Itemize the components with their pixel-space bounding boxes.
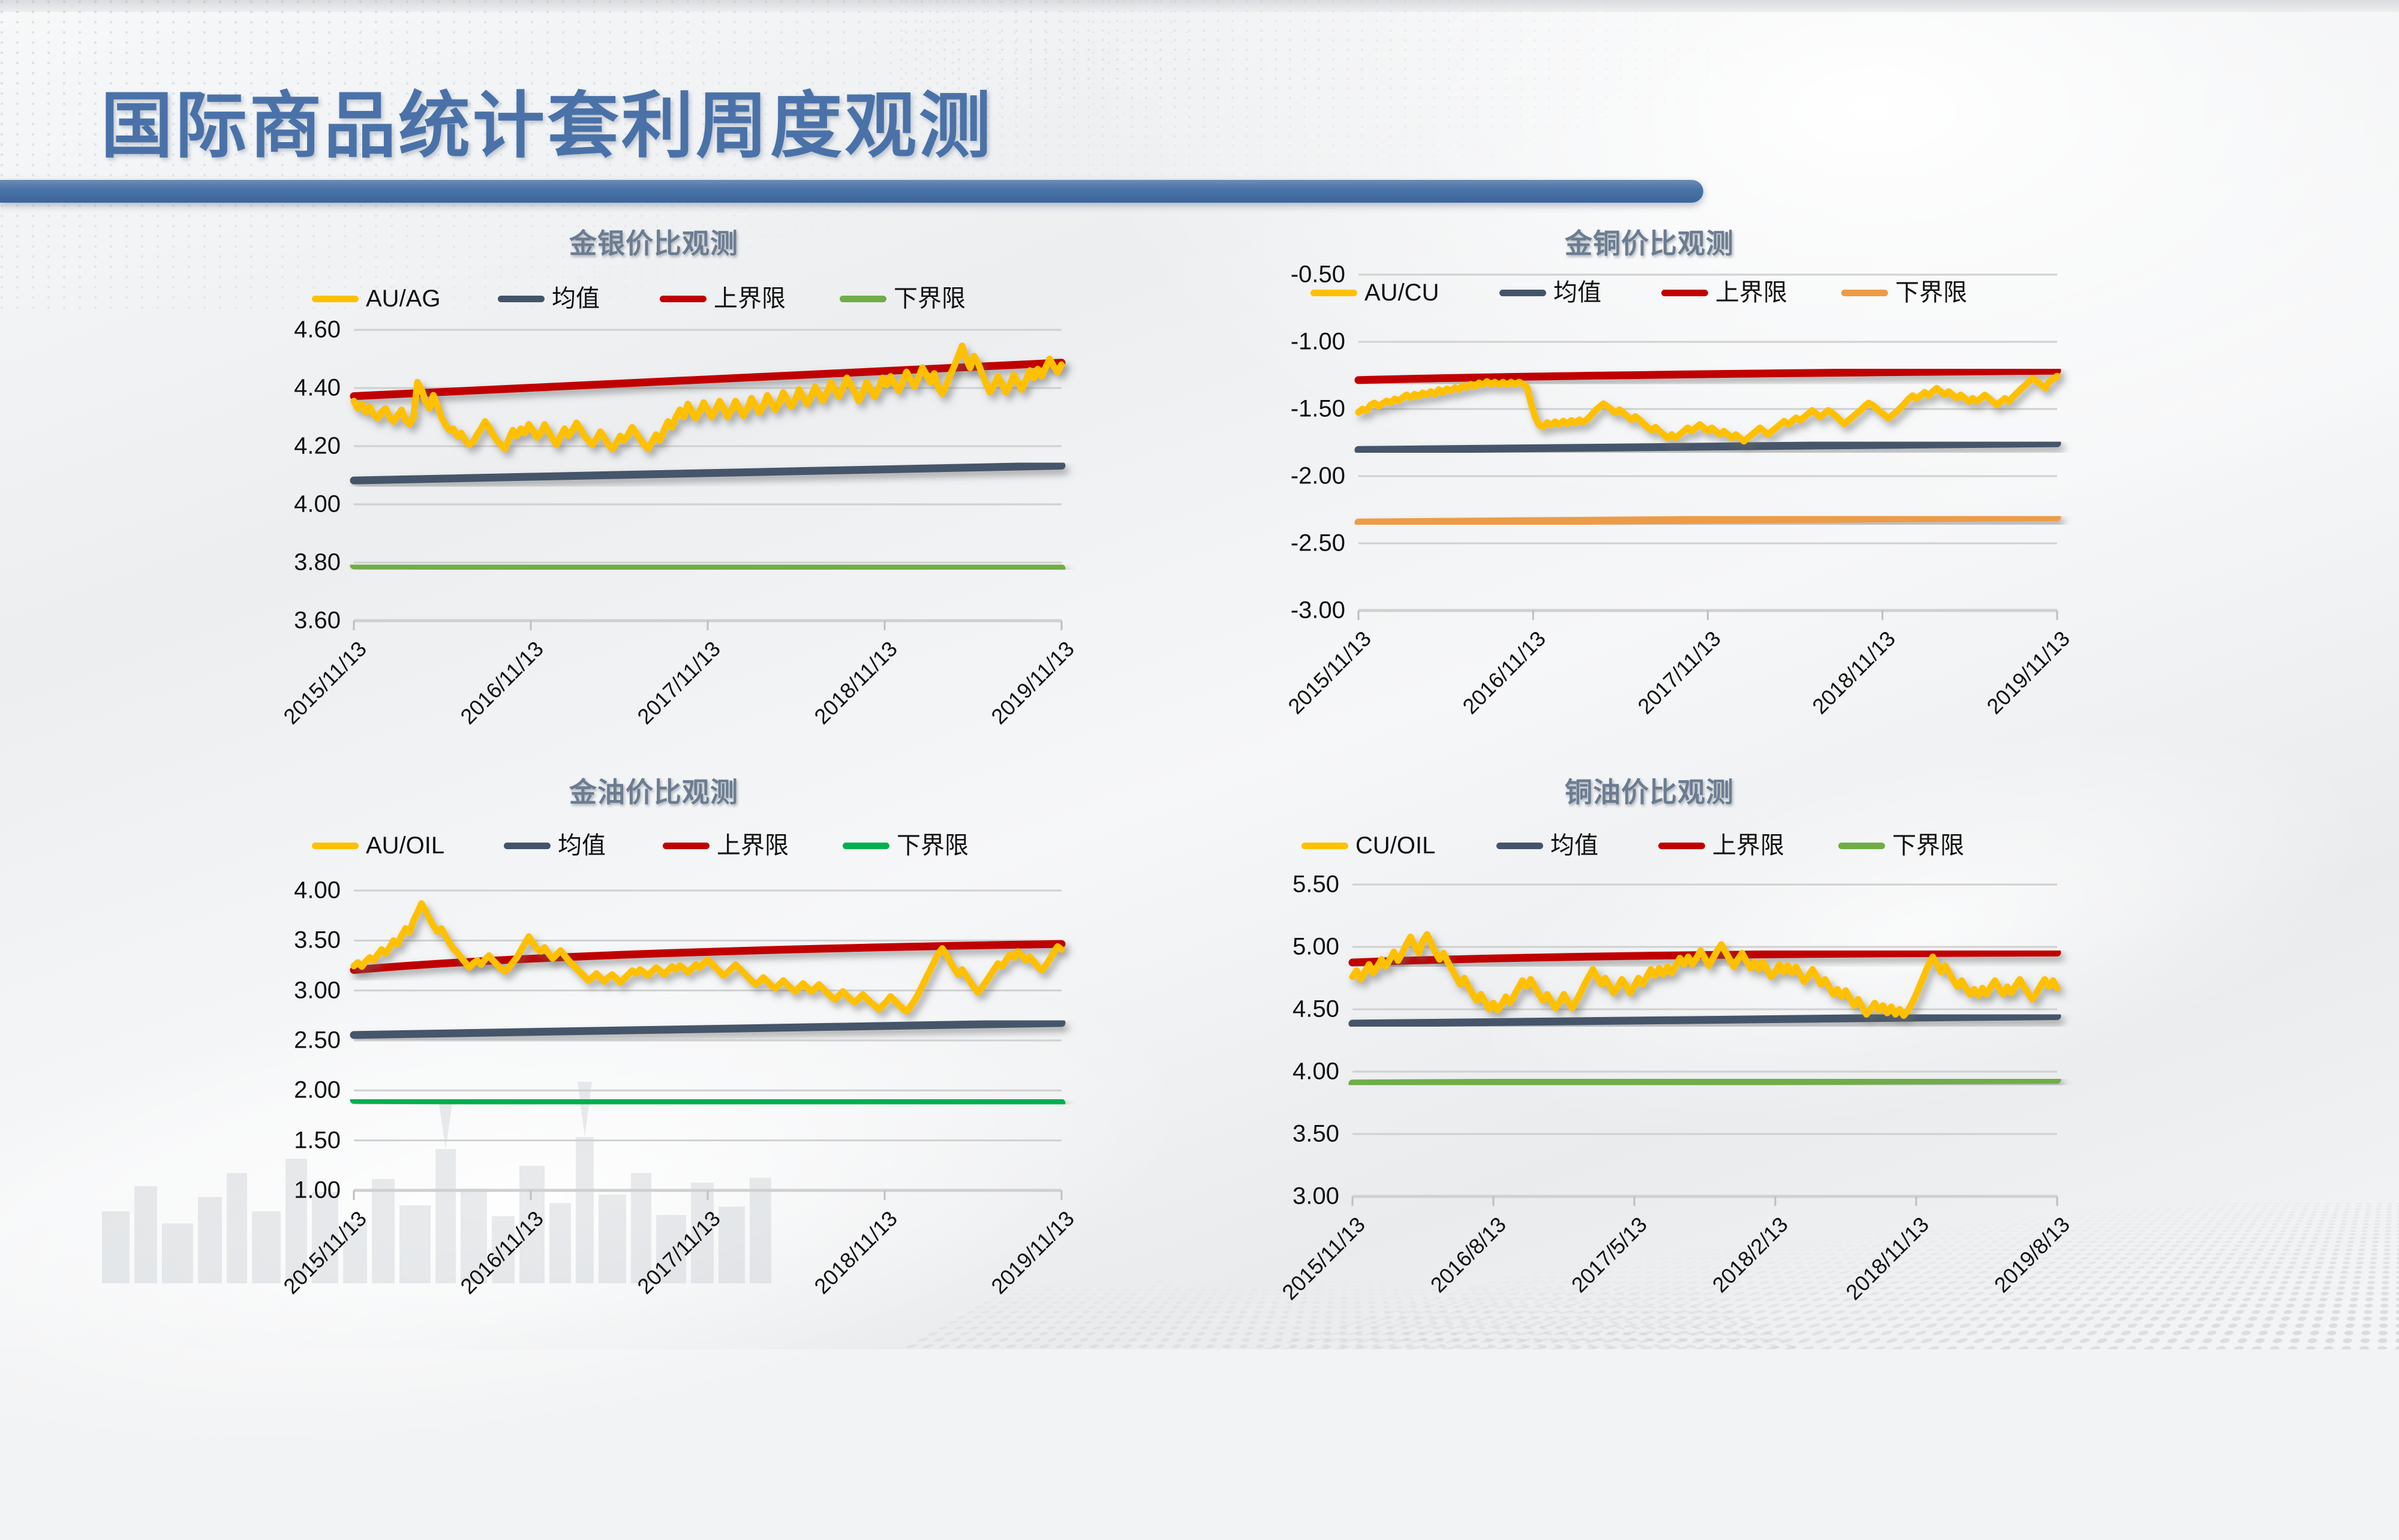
- legend-item-lower[interactable]: 下界限: [1838, 834, 1964, 858]
- legend-item-mean[interactable]: 均值: [1496, 834, 1658, 858]
- title-accent-band: [0, 180, 1703, 203]
- legend-swatch-lower: [840, 296, 886, 302]
- y-axis-tick-label: 4.20: [294, 433, 341, 460]
- mean-line: [1352, 1016, 2057, 1023]
- chart-legend: AU/AG 均值 上界限 下界限: [312, 287, 1008, 311]
- chart-legend: CU/OIL 均值 上界限 下界限: [1301, 834, 2009, 858]
- chart-title: 金铜价比观测: [1211, 222, 2087, 261]
- y-axis-tick-label: 5.00: [1292, 934, 1339, 961]
- legend-swatch-lower: [843, 843, 889, 849]
- legend-item-series[interactable]: AU/AG: [312, 287, 498, 311]
- y-axis-tick-label: 4.40: [294, 375, 341, 402]
- legend-label-series: AU/AG: [366, 287, 440, 311]
- y-axis-tick-label: 2.00: [294, 1077, 341, 1104]
- legend-label-mean: 均值: [1550, 834, 1598, 858]
- chart-title: 铜油价比观测: [1211, 771, 2087, 810]
- legend-swatch-mean: [504, 843, 551, 849]
- plot-area: [1358, 275, 2057, 610]
- y-axis-tick-label: 5.50: [1292, 871, 1339, 898]
- y-axis-tick-label: 4.50: [1292, 996, 1339, 1023]
- y-axis-tick-label: 3.50: [1292, 1121, 1339, 1148]
- legend-label-upper: 上界限: [1712, 834, 1784, 858]
- lower-bound-line: [1358, 517, 2057, 522]
- chart-canvas: [1358, 275, 2057, 610]
- y-axis-tick-label: 4.60: [294, 317, 341, 344]
- legend-item-lower[interactable]: 下界限: [843, 834, 969, 858]
- chart-title: 金银价比观测: [216, 222, 1092, 261]
- y-axis-tick-label: -3.00: [1291, 597, 1345, 624]
- legend-item-lower[interactable]: 下界限: [840, 287, 966, 311]
- legend-item-upper[interactable]: 上界限: [660, 287, 840, 311]
- y-axis-tick-label: 3.60: [294, 607, 341, 634]
- legend-label-lower: 下界限: [894, 287, 966, 311]
- lower-bound-line: [354, 566, 1062, 569]
- data-series-line: [354, 346, 1062, 449]
- legend-item-series[interactable]: AU/OIL: [312, 834, 504, 858]
- y-axis-tick-label: 4.00: [294, 491, 341, 518]
- y-axis-tick-label: 3.80: [294, 549, 341, 576]
- chart-gold-silver: 金银价比观测 AU/AG 均值 上界限 下界限 3.603.804.004.20…: [216, 222, 1092, 666]
- page-title: 国际商品统计套利周度观测: [101, 67, 993, 172]
- legend-item-upper[interactable]: 上界限: [1658, 834, 1838, 858]
- legend-item-mean[interactable]: 均值: [504, 834, 663, 858]
- legend-item-series[interactable]: CU/OIL: [1301, 834, 1496, 858]
- y-axis-tick-label: 3.00: [294, 977, 341, 1004]
- legend-label-mean: 均值: [558, 834, 606, 858]
- y-axis-tick-label: 3.00: [1292, 1183, 1339, 1210]
- plot-area: [354, 330, 1062, 621]
- legend-swatch-upper: [1658, 843, 1705, 849]
- chart-copper-oil: 铜油价比观测 CU/OIL 均值 上界限 下界限 3.003.504.004.5…: [1211, 771, 2087, 1226]
- chart-canvas: [354, 891, 1062, 1190]
- chart-legend: AU/OIL 均值 上界限 下界限: [312, 834, 1014, 858]
- chart-title: 金油价比观测: [216, 771, 1092, 810]
- y-axis-tick-label: 1.00: [294, 1177, 341, 1204]
- legend-label-mean: 均值: [552, 287, 600, 311]
- y-axis-tick-label: -1.00: [1291, 329, 1345, 356]
- legend-label-series: CU/OIL: [1355, 834, 1435, 858]
- plot-area: [1352, 885, 2057, 1196]
- y-axis-tick-label: -0.50: [1291, 261, 1345, 288]
- y-axis-tick-label: 4.00: [1292, 1058, 1339, 1085]
- legend-label-lower: 下界限: [897, 834, 969, 858]
- chart-gold-oil: 金油价比观测 AU/OIL 均值 上界限 下界限 1.001.502.002.5…: [216, 771, 1092, 1226]
- y-axis-tick-label: 4.00: [294, 877, 341, 904]
- legend-swatch-lower: [1838, 843, 1885, 849]
- legend-swatch-series: [312, 843, 359, 849]
- mean-line: [354, 1023, 1062, 1035]
- y-axis-tick-label: -2.00: [1291, 463, 1345, 490]
- mean-line: [1358, 443, 2057, 450]
- lower-bound-line: [354, 1100, 1062, 1103]
- y-axis-tick-label: 3.50: [294, 927, 341, 954]
- legend-swatch-series: [1310, 290, 1357, 296]
- upper-bound-line: [1358, 371, 2057, 380]
- legend-swatch-upper: [663, 843, 710, 849]
- legend-label-lower: 下界限: [1892, 834, 1964, 858]
- chart-canvas: [1352, 885, 2057, 1196]
- mean-line: [354, 465, 1062, 480]
- legend-swatch-mean: [498, 296, 545, 302]
- legend-label-upper: 上界限: [717, 834, 789, 858]
- legend-swatch-upper: [660, 296, 707, 302]
- legend-swatch-mean: [1496, 843, 1543, 849]
- legend-label-series: AU/OIL: [366, 834, 444, 858]
- legend-item-mean[interactable]: 均值: [498, 287, 660, 311]
- y-axis-tick-label: -2.50: [1291, 530, 1345, 557]
- background-dot-pattern-secondary: [900, 0, 1799, 204]
- lower-bound-line: [1352, 1080, 2057, 1084]
- y-axis-tick-label: 2.50: [294, 1027, 341, 1054]
- legend-swatch-series: [1301, 843, 1348, 849]
- legend-swatch-series: [312, 296, 359, 302]
- plot-area: [354, 891, 1062, 1190]
- chart-gold-copper: 金铜价比观测 AU/CU 均值 上界限 下界限 -3.00-2.50-2.00-…: [1211, 222, 2087, 666]
- legend-label-upper: 上界限: [714, 287, 786, 311]
- y-axis-tick-label: 1.50: [294, 1127, 341, 1154]
- chart-canvas: [354, 330, 1062, 621]
- y-axis-tick-label: -1.50: [1291, 396, 1345, 423]
- data-series-line: [354, 904, 1062, 1012]
- legend-item-upper[interactable]: 上界限: [663, 834, 843, 858]
